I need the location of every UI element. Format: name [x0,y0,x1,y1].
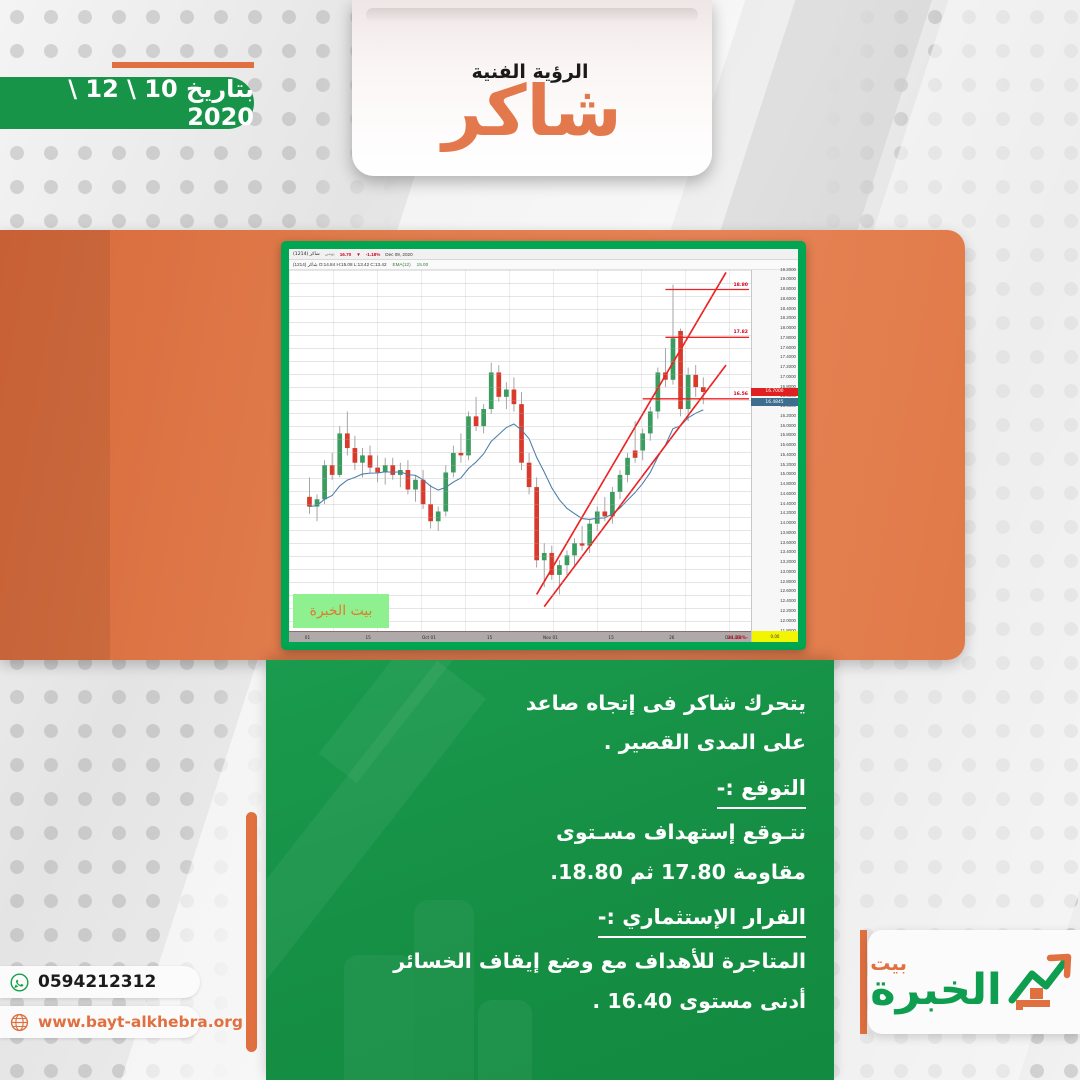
chart-price-tick: 12.0000 [780,619,796,623]
chart-price-tick: 14.6000 [780,492,796,496]
chart-price-tick: 19.2000 [780,268,796,272]
chart-price-tick: 14.4000 [780,502,796,506]
date-badge: بتاريخ 10 \ 12 \ 2020 [0,77,254,129]
contact-block: 0594212312 www.bayt-alkhebra.org [0,966,200,1046]
chart-timeframe: يومي [325,251,335,257]
phone-pill[interactable]: 0594212312 [0,966,200,998]
chart-quote-date: Dec 09, 2020 [385,252,412,257]
chart-price-tick: 18.4000 [780,307,796,311]
chart-price-tick: 13.4000 [780,550,796,554]
chart-bottom-change: -21.23% [728,636,748,641]
chart-gridlines [289,270,751,631]
chart-plot-area: 18.8017.8216.56 [289,270,751,631]
chart-price-tick: 18.8000 [780,287,796,291]
chart-ema-value: 15.00 [417,262,429,267]
chart-price-tick: 13.8000 [780,531,796,535]
chart-ohlc-values: شاكر (1214) O:14.84 H:15.08 L:13.42 C:13… [293,262,387,268]
website-url: www.bayt-alkhebra.org [38,1013,243,1031]
chart-level-label-resistance: 17.82 [733,330,748,335]
chart-frame: شاكر (1214) يومي 16.70 ▼ -1.18% Dec 09, … [281,241,806,650]
chart-date-axis: 0115Oct 0115Nov 011526Dec 09 [289,631,751,642]
chart-date-tick: Oct 01 [422,635,436,640]
chart-ohlc-bar: شاكر (1214) O:14.84 H:15.08 L:13.42 C:13… [289,260,798,270]
analysis-line-5: المتاجرة للأهداف مع وضع إيقاف الخسائر [296,942,806,981]
chart-price-tick: 13.6000 [780,541,796,545]
chart-level-label-support: 16.56 [733,392,748,397]
chart-price-tick: 17.6000 [780,346,796,350]
chart-logo-watermark-text: بيت الخبرة [310,603,373,619]
brand-title: شاكر [442,78,621,145]
chart-price-tick: 17.2000 [780,365,796,369]
chart-price-tick: 13.0000 [780,570,796,574]
analysis-line-1: يتحرك شاكر فى إتجاه صاعد [296,684,806,723]
chart-price-tick: 12.4000 [780,599,796,603]
chart-axis-corner: 0.00 [751,631,798,642]
analysis-heading-2-wrap: القرار الإستثماري :- [296,898,806,939]
chart-price-tick: 12.6000 [780,589,796,593]
chart-price-tick: 17.4000 [780,355,796,359]
chart-price-tick: 18.6000 [780,297,796,301]
analysis-line-2: على المدى القصير . [296,723,806,762]
analysis-line-6: أدنى مستوى 16.40 . [296,982,806,1021]
phone-number: 0594212312 [38,972,156,992]
chart-price-tick: 12.8000 [780,580,796,584]
chart-price-tick: 15.4000 [780,453,796,457]
chart-price-badge-last: 16.7000 [751,388,798,396]
chart-date-tick: Nov 01 [543,635,558,640]
growth-arrow-icon [1006,948,1078,1016]
chart-price-tick: 12.2000 [780,609,796,613]
whatsapp-icon [10,973,29,992]
website-pill[interactable]: www.bayt-alkhebra.org [0,1006,200,1038]
chart-price-axis: 19.200019.000018.800018.600018.400018.20… [751,270,798,631]
chart-price-tick: 16.0000 [780,424,796,428]
globe-icon [10,1013,29,1032]
chart-price-tick: 19.0000 [780,277,796,281]
chart-price-tick: 16.2000 [780,414,796,418]
chart-price-tick: 15.6000 [780,443,796,447]
chart-quote-bar: شاكر (1214) يومي 16.70 ▼ -1.18% Dec 09, … [289,249,798,260]
chart-price-badge-ema: 16.4845 [751,398,798,406]
chart-ema-label: EMA(12) [393,262,411,267]
analysis-line-3: نتـوقع إستهداف مسـتوى [296,813,806,852]
analysis-line-4: مقاومة 17.80 ثم 18.80. [296,853,806,892]
analysis-heading-decision: القرار الإستثماري :- [598,902,806,939]
chart-price-tick: 17.0000 [780,375,796,379]
chart-logo-watermark: بيت الخبرة [293,594,389,628]
orange-accent-bar [246,812,257,1052]
chart-date-tick: 15 [608,635,613,640]
chart-price-tick: 18.0000 [780,326,796,330]
chart-price-tick: 15.2000 [780,463,796,467]
chart-change-percent: -1.18% [366,252,381,257]
analysis-panel: يتحرك شاكر فى إتجاه صاعد على المدى القصي… [266,660,834,1080]
chart-price-tick: 15.0000 [780,472,796,476]
logo-big-word: الخبرة [870,972,1002,1009]
chart-screenshot[interactable]: شاكر (1214) يومي 16.70 ▼ -1.18% Dec 09, … [289,249,798,642]
analysis-heading-1-wrap: التوقع :- [296,769,806,810]
date-accent-rule [112,62,254,68]
chart-corner-value: 0.00 [771,634,780,639]
logo-accent-bar [860,930,867,1034]
analysis-text-block: يتحرك شاكر فى إتجاه صاعد على المدى القصي… [266,660,834,1021]
chart-price-tick: 14.8000 [780,482,796,486]
company-logo-card: بيت الخبرة [868,930,1080,1034]
logo-text-block: بيت الخبرة [870,955,1002,1009]
chart-date-tick: 01 [305,635,310,640]
chart-price-tick: 13.2000 [780,560,796,564]
chart-price-tick: 14.2000 [780,511,796,515]
chart-level-label-resistance: 18.80 [733,283,748,288]
chart-symbol-name: شاكر (1214) [293,252,320,257]
chart-price-tick: 14.0000 [780,521,796,525]
analysis-heading-forecast: التوقع :- [717,773,806,810]
chart-date-tick: 15 [487,635,492,640]
chart-date-tick: 15 [366,635,371,640]
chart-price-tick: 15.8000 [780,433,796,437]
chart-date-tick: 26 [669,635,674,640]
date-badge-wrapper: بتاريخ 10 \ 12 \ 2020 [0,62,254,129]
chart-change-arrow: ▼ [356,252,361,257]
chart-price-tick: 18.2000 [780,316,796,320]
chart-last-price: 16.70 [340,252,352,257]
brand-header-card: الرؤية الفنية شاكر [352,0,712,176]
chart-price-tick: 17.8000 [780,336,796,340]
chart-band-shade [0,230,110,660]
